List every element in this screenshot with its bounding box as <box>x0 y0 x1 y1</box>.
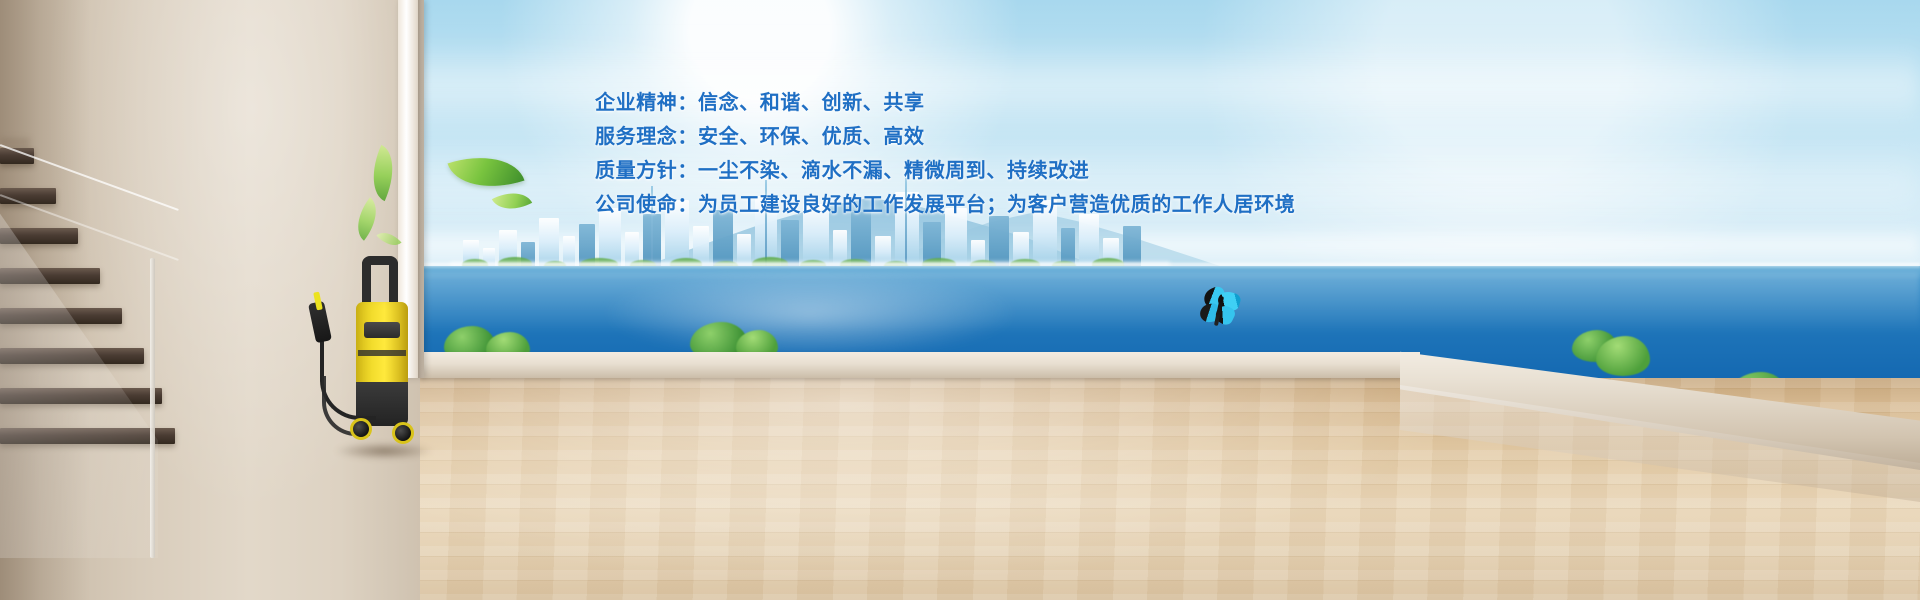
washer-handle <box>362 256 398 308</box>
shrub <box>1596 336 1650 376</box>
promotional-banner: 企业精神：信念、和谐、创新、共享 服务理念：安全、环保、优质、高效 质量方针：一… <box>0 0 1920 600</box>
culture-line-mission: 公司使命：为员工建设良好的工作发展平台；为客户营造优质的工作人居环境 <box>595 188 1375 222</box>
baseboard-front <box>420 352 1420 378</box>
culture-line-spirit: 企业精神：信念、和谐、创新、共享 <box>595 86 1375 120</box>
culture-line-quality: 质量方针：一尘不染、滴水不漏、精微周到、持续改进 <box>595 154 1375 188</box>
floor-light-sheen <box>300 378 1500 600</box>
butterfly-icon <box>1196 288 1242 332</box>
washer-ground-shadow <box>334 442 434 460</box>
right-edge-fade <box>1880 0 1920 600</box>
washer-wheel-right <box>392 422 414 444</box>
sun-glint-on-water <box>600 268 1020 358</box>
company-culture-text-block: 企业精神：信念、和谐、创新、共享 服务理念：安全、环保、优质、高效 质量方针：一… <box>595 86 1375 222</box>
washer-wheel-left <box>350 418 372 440</box>
floating-staircase <box>0 120 175 460</box>
culture-line-service: 服务理念：安全、环保、优质、高效 <box>595 120 1375 154</box>
pressure-washer <box>300 256 430 466</box>
